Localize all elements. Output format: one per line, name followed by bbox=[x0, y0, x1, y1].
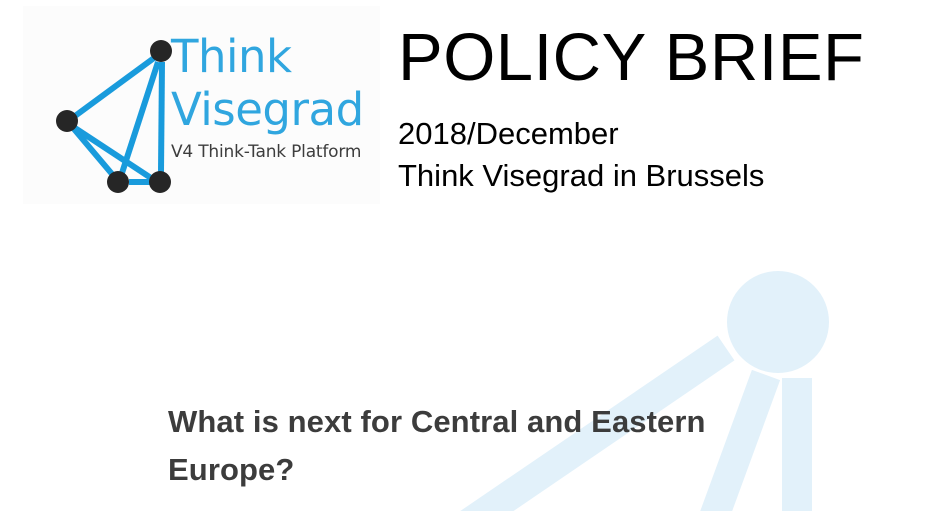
policy-brief-page: Think Visegrad V4 Think-Tank Platform PO… bbox=[0, 0, 928, 511]
logo-node-left bbox=[56, 110, 78, 132]
logo-wordmark: Think Visegrad V4 Think-Tank Platform bbox=[171, 34, 386, 194]
logo-node-bottom-left bbox=[107, 171, 129, 193]
page-title: POLICY BRIEF bbox=[398, 24, 864, 91]
headline-line-1: What is next for Central and Eastern bbox=[168, 398, 868, 446]
logo-node-bottom-right bbox=[149, 171, 171, 193]
event-name: Think Visegrad in Brussels bbox=[398, 160, 764, 191]
issue-date: 2018/December bbox=[398, 118, 619, 149]
headline-line-2: Europe? bbox=[168, 446, 868, 494]
watermark-node-icon bbox=[727, 271, 829, 373]
header-text-block: POLICY BRIEF 2018/December Think Visegra… bbox=[398, 0, 918, 210]
logo-node-top bbox=[150, 40, 172, 62]
logo-edge-left-bottomright bbox=[75, 128, 151, 178]
article-headline: What is next for Central and Eastern Eur… bbox=[168, 398, 868, 494]
think-visegrad-graph-icon bbox=[23, 6, 183, 204]
logo-edge-top-bottomright bbox=[161, 62, 162, 172]
logo-wordmark-line-think: Think bbox=[171, 34, 386, 79]
logo-container: Think Visegrad V4 Think-Tank Platform bbox=[23, 6, 380, 204]
page-header: Think Visegrad V4 Think-Tank Platform PO… bbox=[0, 0, 928, 210]
logo-wordmark-line-visegrad: Visegrad bbox=[171, 87, 386, 132]
logo-tagline: V4 Think-Tank Platform bbox=[171, 142, 386, 162]
